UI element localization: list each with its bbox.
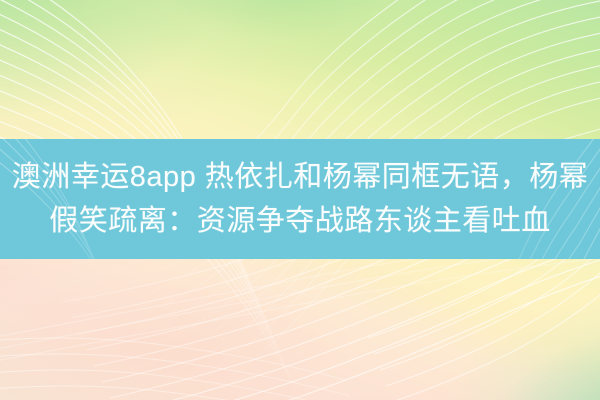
banner-title-line-2: 假笑疏离：资源争夺战路东谈主看吐血 [12, 199, 589, 243]
banner-image: 澳洲幸运8app 热依扎和杨幂同框无语，杨幂 假笑疏离：资源争夺战路东谈主看吐血 [0, 0, 600, 400]
banner-title-line-1: 澳洲幸运8app 热依扎和杨幂同框无语，杨幂 [12, 155, 589, 199]
banner-title: 澳洲幸运8app 热依扎和杨幂同框无语，杨幂 假笑疏离：资源争夺战路东谈主看吐血 [12, 155, 589, 243]
title-band: 澳洲幸运8app 热依扎和杨幂同框无语，杨幂 假笑疏离：资源争夺战路东谈主看吐血 [0, 139, 600, 259]
